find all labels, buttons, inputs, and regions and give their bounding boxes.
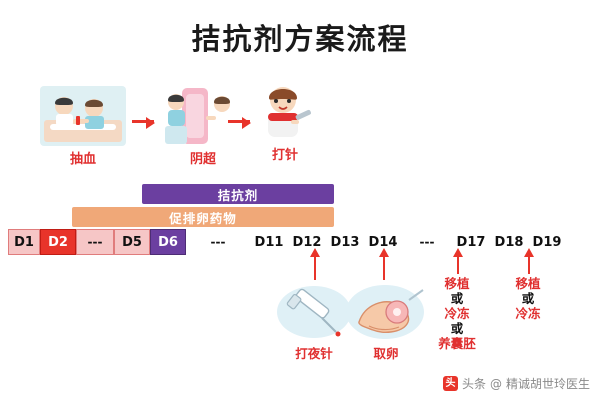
diagram-canvas: 拮抗剂方案流程 抽血	[0, 0, 600, 400]
timeline-cell-D11: D11	[250, 229, 288, 255]
watermark-separator: @	[490, 377, 502, 391]
ovary-icon	[345, 282, 425, 342]
timeline-cell-D12: D12	[288, 229, 326, 255]
step-blood-draw: 抽血	[40, 86, 126, 146]
syringe-icon	[276, 282, 352, 342]
label-blastocyst-transfer-line3: 冷冻	[499, 306, 557, 321]
timeline-cell-D5: D5	[114, 229, 150, 255]
step-ultrasound: 阴超	[160, 86, 246, 146]
watermark: 头 头条 @ 精诚胡世玲医生	[443, 375, 590, 392]
injection-icon	[255, 82, 315, 146]
bar-stimulation: 促排卵药物	[72, 207, 334, 227]
timeline-cell-D6: D6	[150, 229, 186, 255]
timeline-cell-D13: D13	[326, 229, 364, 255]
watermark-platform: 头条	[462, 375, 486, 392]
pointer-trigger-shot	[314, 256, 316, 280]
syringe-illustration	[276, 282, 352, 347]
timeline-cell-gapgapgap: ---	[402, 229, 452, 255]
bar-antagonist: 拮抗剂	[142, 184, 334, 204]
page-title: 拮抗剂方案流程	[0, 16, 600, 58]
label-day3-transfer-line4: 或	[428, 321, 486, 336]
timeline-cell-D18: D18	[490, 229, 528, 255]
watermark-author: 精诚胡世玲医生	[506, 375, 590, 392]
step-blood-draw-label: 抽血	[40, 148, 126, 167]
pointer-day3-transfer	[457, 256, 459, 274]
timeline-cell-D1: D1	[8, 229, 40, 255]
step-injection: 打针	[255, 82, 315, 142]
label-blastocyst-transfer-line2: 或	[499, 291, 557, 306]
label-trigger-shot-line1: 打夜针	[284, 346, 344, 361]
label-day3-transfer-line5: 养囊胚	[428, 336, 486, 351]
arrow-step2-to-step3	[228, 120, 250, 123]
label-egg-retrieval-line1: 取卵	[356, 346, 416, 361]
label-blastocyst-transfer-line1: 移植	[499, 276, 557, 291]
step-injection-label: 打针	[255, 144, 315, 163]
bar-stimulation-label: 促排卵药物	[169, 208, 237, 227]
step-ultrasound-label: 阴超	[160, 148, 246, 167]
pointer-blastocyst-transfer	[528, 256, 530, 274]
label-day3-transfer: 移植 或 冷冻 或 养囊胚	[428, 276, 486, 351]
timeline-cell-gapgapgap: ---	[186, 229, 250, 255]
timeline-cell-D2: D2	[40, 229, 76, 255]
blood-draw-icon	[40, 86, 126, 146]
arrow-step1-to-step2	[132, 120, 154, 123]
timeline-cell-gapgapgap: ---	[76, 229, 114, 255]
ultrasound-icon	[160, 86, 246, 146]
label-egg-retrieval: 取卵	[356, 346, 416, 361]
label-blastocyst-transfer: 移植 或 冷冻	[499, 276, 557, 321]
bar-antagonist-label: 拮抗剂	[218, 185, 259, 204]
label-day3-transfer-line1: 移植	[428, 276, 486, 291]
label-day3-transfer-line3: 冷冻	[428, 306, 486, 321]
pointer-egg-retrieval	[383, 256, 385, 280]
ovary-illustration	[345, 282, 425, 347]
toutiao-logo-icon: 头	[443, 376, 458, 391]
label-day3-transfer-line2: 或	[428, 291, 486, 306]
label-trigger-shot: 打夜针	[284, 346, 344, 361]
procedure-steps-row: 抽血 阴超	[0, 78, 600, 168]
